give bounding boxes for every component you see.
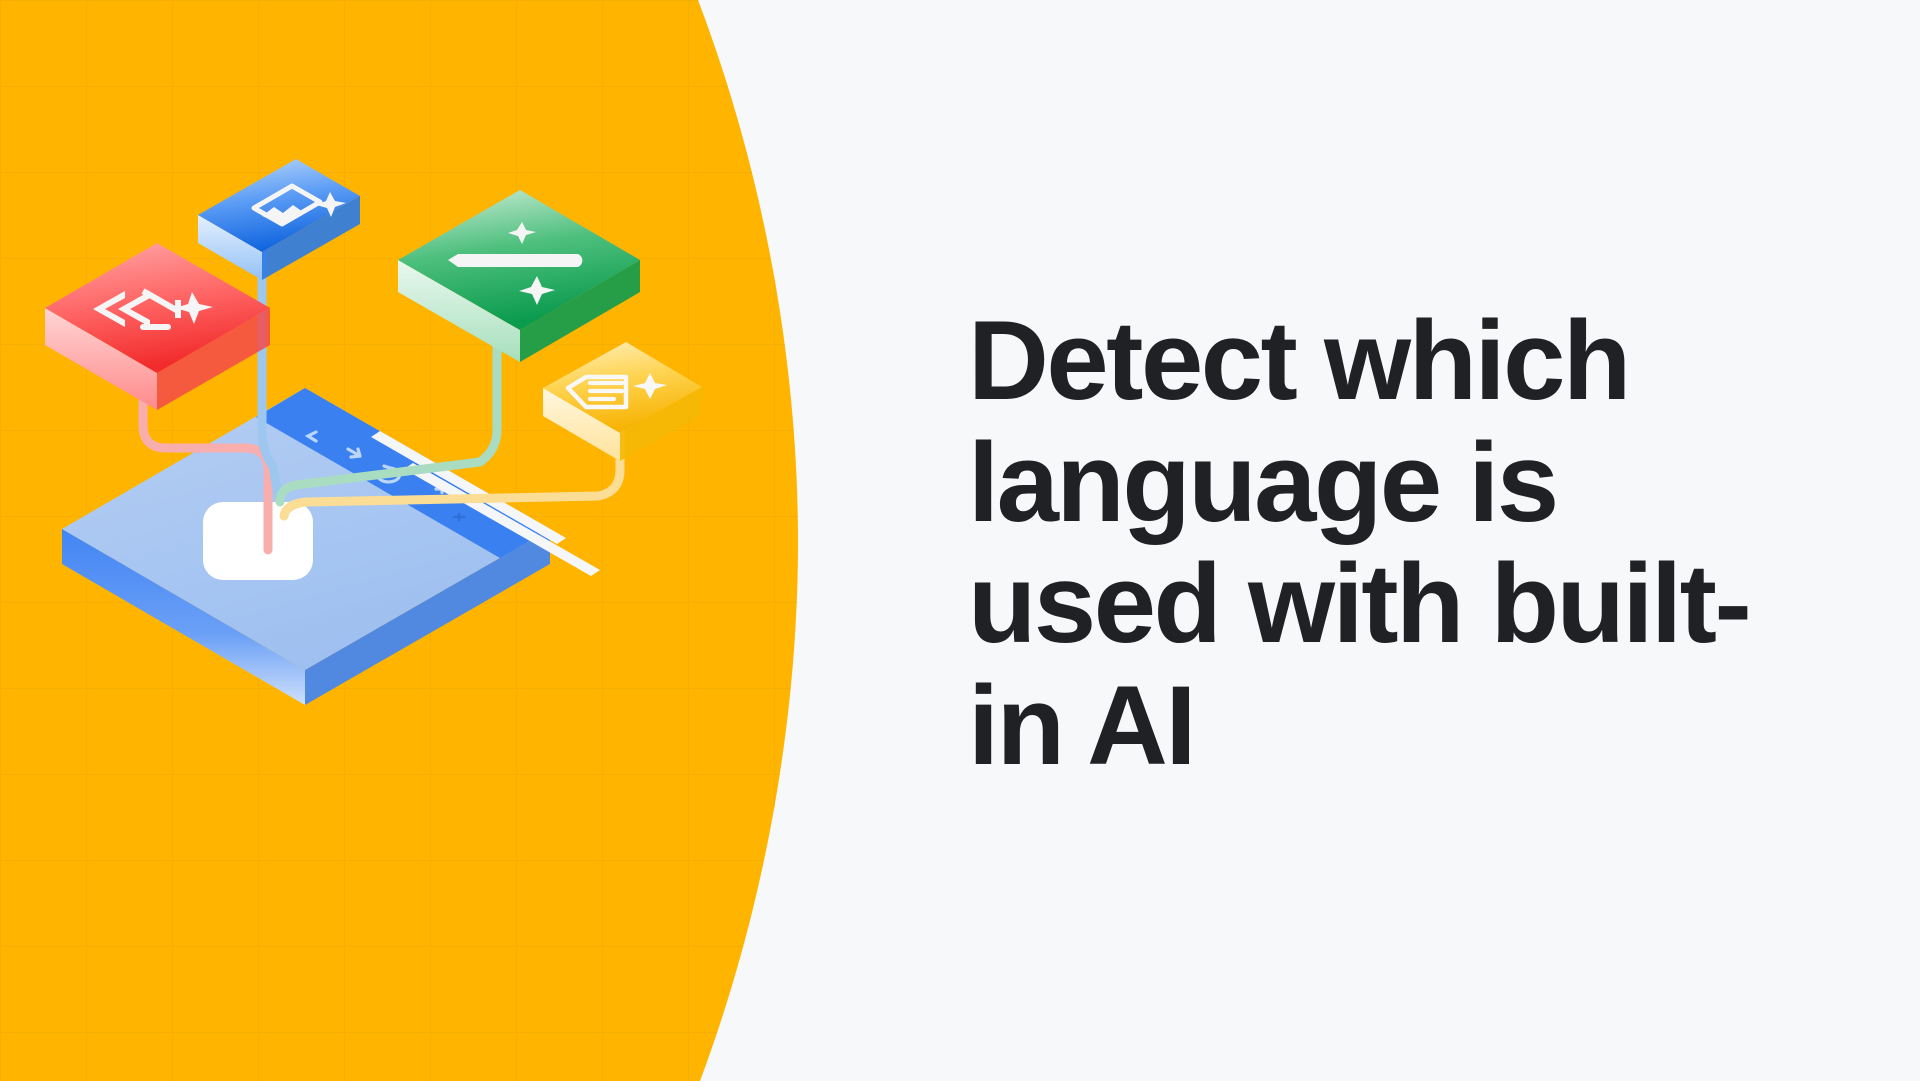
image-summarizer-card[interactable]: [198, 159, 360, 280]
built-in-ai-isometric-illustration: [30, 130, 790, 770]
page-title: Detect which language is used with built…: [968, 300, 1798, 786]
headline-block: Detect which language is used with built…: [968, 300, 1798, 786]
hero-banner: Detect which language is used with built…: [0, 0, 1920, 1081]
text-summarizer-card[interactable]: [543, 342, 702, 461]
writer-card[interactable]: [398, 190, 640, 362]
language-detector-card[interactable]: [45, 243, 270, 410]
center-output-card[interactable]: [203, 502, 313, 580]
